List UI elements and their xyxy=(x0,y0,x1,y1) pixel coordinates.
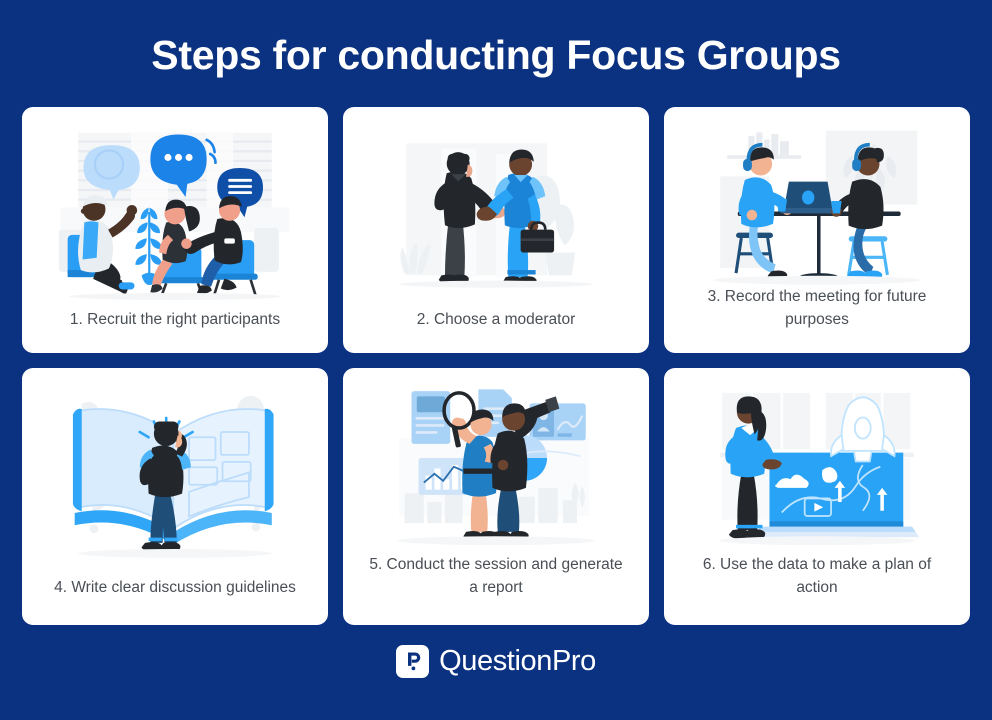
step-card-6: 6. Use the data to make a plan of action xyxy=(664,368,970,625)
step-caption-3: 3. Record the meeting for future purpose… xyxy=(674,286,960,343)
step-card-1: 1. Recruit the right participants xyxy=(22,107,328,353)
step-caption-5: 5. Conduct the session and generate a re… xyxy=(353,554,639,615)
steps-grid: 1. Recruit the right participants xyxy=(15,107,977,625)
step-card-2: 2. Choose a moderator xyxy=(343,107,649,353)
step-card-3: 3. Record the meeting for future purpose… xyxy=(664,107,970,353)
step-caption-1: 1. Recruit the right participants xyxy=(58,309,292,343)
launch-plan-illustration xyxy=(674,376,960,554)
questionpro-p-mark xyxy=(396,645,429,678)
focus-group-discussion-illustration xyxy=(32,115,318,309)
analysis-report-illustration xyxy=(353,376,639,554)
step-card-5: 5. Conduct the session and generate a re… xyxy=(343,368,649,625)
step-card-4: 4. Write clear discussion guidelines xyxy=(22,368,328,625)
guidelines-book-illustration xyxy=(32,376,318,577)
infographic-root: Steps for conducting Focus Groups xyxy=(0,0,992,720)
questionpro-logo: QuestionPro xyxy=(396,641,596,681)
recording-meeting-illustration xyxy=(674,115,960,286)
handshake-illustration xyxy=(353,115,639,309)
brand-name: QuestionPro xyxy=(439,645,596,678)
step-caption-2: 2. Choose a moderator xyxy=(405,309,588,343)
step-caption-6: 6. Use the data to make a plan of action xyxy=(674,554,960,615)
step-caption-4: 4. Write clear discussion guidelines xyxy=(42,577,308,615)
page-title: Steps for conducting Focus Groups xyxy=(151,33,840,78)
